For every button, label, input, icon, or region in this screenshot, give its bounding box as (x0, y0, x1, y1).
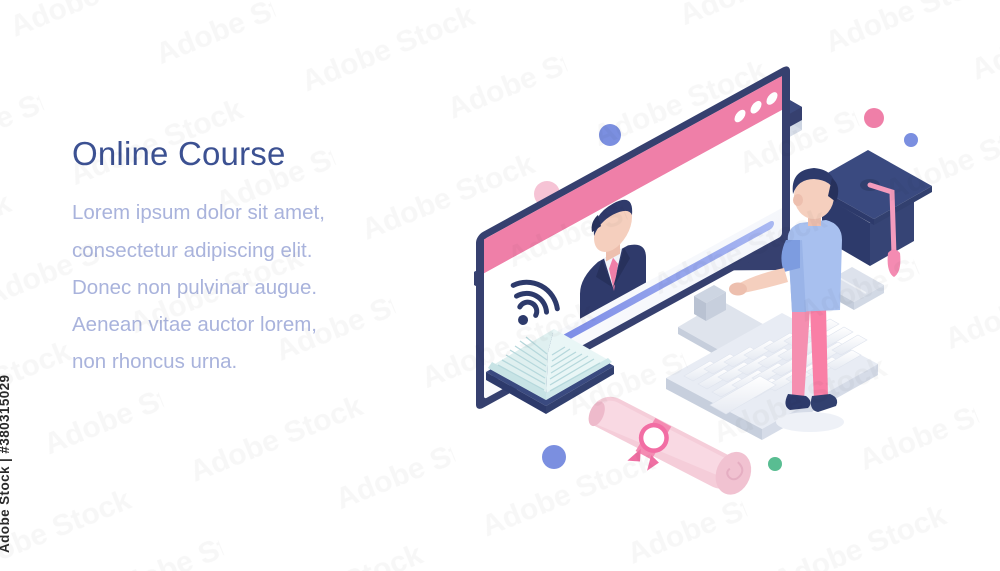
text-column: Online Course Lorem ipsum dolor sit amet… (72, 136, 452, 381)
dot-green-bottom-right (768, 457, 782, 471)
dot-blue-top-right (904, 133, 918, 147)
student-shadow (776, 412, 844, 432)
stock-credit-label: Adobe Stock | #380315029 (0, 375, 12, 553)
online-course-illustration (470, 60, 1000, 530)
student-shoe-front (811, 394, 837, 412)
dot-blue-bottom-left (542, 445, 566, 469)
dot-blue-top-left (599, 124, 621, 146)
dot-pink-top-right (864, 108, 884, 128)
page-title: Online Course (72, 136, 452, 172)
illustration-canvas: Online Course Lorem ipsum dolor sit amet… (0, 0, 1000, 571)
student-hand (729, 283, 747, 296)
body-paragraph: Lorem ipsum dolor sit amet, consectetur … (72, 194, 452, 380)
cap-tassel (888, 250, 901, 278)
student-sleeve (781, 240, 800, 272)
student-ear (793, 194, 803, 206)
